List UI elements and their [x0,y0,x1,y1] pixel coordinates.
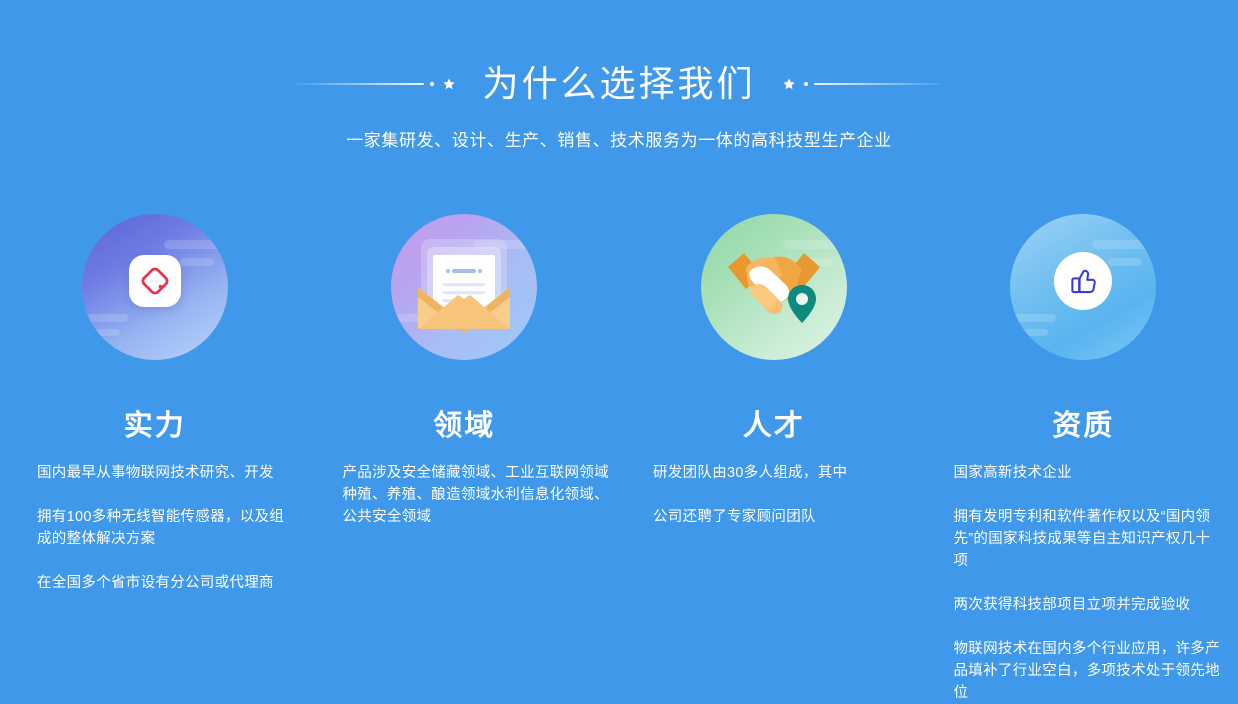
title-row: 为什么选择我们 [0,62,1238,106]
section-header: 为什么选择我们 一家集研发、设计、生产、销售、技术服务为一体的高科技型生产企业 [0,0,1238,180]
star-icon-left [442,77,456,91]
feature-column-domain: 领域 产品涉及安全储藏领域、工业互联网领域种殖、养殖、酿造领域水利信息化领域、公… [310,206,620,704]
sheen-highlight [164,240,222,249]
icon-tile [129,255,181,307]
sheen-highlight [1022,329,1048,336]
feature-column-talent: 人才 研发团队由30多人组成，其中 公司还聘了专家顾问团队 [619,206,929,704]
decoration-line-left [296,83,424,85]
page-subtitle: 一家集研发、设计、生产、销售、技术服务为一体的高科技型生产企业 [0,128,1238,154]
thumbs-up-icon [1054,252,1112,310]
column-title-talent: 人才 [743,408,805,444]
feature-columns: 实力 国内最早从事物联网技术研究、开发 拥有100多种无线智能传感器，以及组成的… [0,206,1238,704]
star-icon-right [782,77,796,91]
sheen-highlight [84,314,128,322]
decoration-dot-left [430,82,434,86]
sheen-highlight [180,258,214,266]
sheen-highlight [1012,314,1056,322]
handshake-location-icon [718,231,830,331]
sheen-highlight [1108,258,1142,266]
feature-text: 国家高新技术企业 [954,462,1225,484]
column-title-strength: 实力 [124,408,186,444]
column-body-qualification: 国家高新技术企业 拥有发明专利和软件著作权以及“国内领先”的国家科技成果等自主知… [929,462,1238,704]
title-left-decoration [296,69,456,99]
feature-text: 公司还聘了专家顾问团队 [653,506,909,528]
sheen-highlight [1092,240,1150,249]
tag-diamond-icon [129,255,181,307]
title-right-decoration [782,69,942,99]
column-body-talent: 研发团队由30多人组成，其中 公司还聘了专家顾问团队 [619,462,929,528]
icon-talent-wrapper [701,206,847,356]
feature-text: 国内最早从事物联网技术研究、开发 [37,462,296,484]
decoration-line-right [814,83,942,85]
feature-text: 产品涉及安全储藏领域、工业互联网领域种殖、养殖、酿造领域水利信息化领域、公共安全… [343,462,610,528]
feature-text: 在全国多个省市设有分公司或代理商 [37,572,296,594]
feature-text: 研发团队由30多人组成，其中 [653,462,909,484]
envelope-letter-icon [405,225,523,337]
icon-qualification-wrapper [1010,206,1156,356]
sheen-highlight [94,329,120,336]
feature-column-strength: 实力 国内最早从事物联网技术研究、开发 拥有100多种无线智能传感器，以及组成的… [0,206,310,704]
page-title: 为什么选择我们 [482,62,755,106]
column-body-domain: 产品涉及安全储藏领域、工业互联网领域种殖、养殖、酿造领域水利信息化领域、公共安全… [310,462,620,528]
column-body-strength: 国内最早从事物联网技术研究、开发 拥有100多种无线智能传感器，以及组成的整体解… [0,462,310,594]
feature-text: 两次获得科技部项目立项并完成验收 [954,594,1225,616]
column-title-qualification: 资质 [1052,408,1114,444]
feature-column-qualification: 资质 国家高新技术企业 拥有发明专利和软件著作权以及“国内领先”的国家科技成果等… [929,206,1238,704]
icon-domain-wrapper [391,206,537,356]
why-choose-us-section: 为什么选择我们 一家集研发、设计、生产、销售、技术服务为一体的高科技型生产企业 [0,0,1238,698]
icon-strength-wrapper [82,206,228,356]
feature-text: 拥有100多种无线智能传感器，以及组成的整体解决方案 [37,506,296,550]
icon-disc [1054,252,1112,310]
column-title-domain: 领域 [433,408,495,444]
feature-text: 物联网技术在国内多个行业应用，许多产品填补了行业空白，多项技术处于领先地位 [954,638,1225,704]
decoration-dot-right [804,82,808,86]
feature-text: 拥有发明专利和软件著作权以及“国内领先”的国家科技成果等自主知识产权几十项 [954,506,1225,572]
